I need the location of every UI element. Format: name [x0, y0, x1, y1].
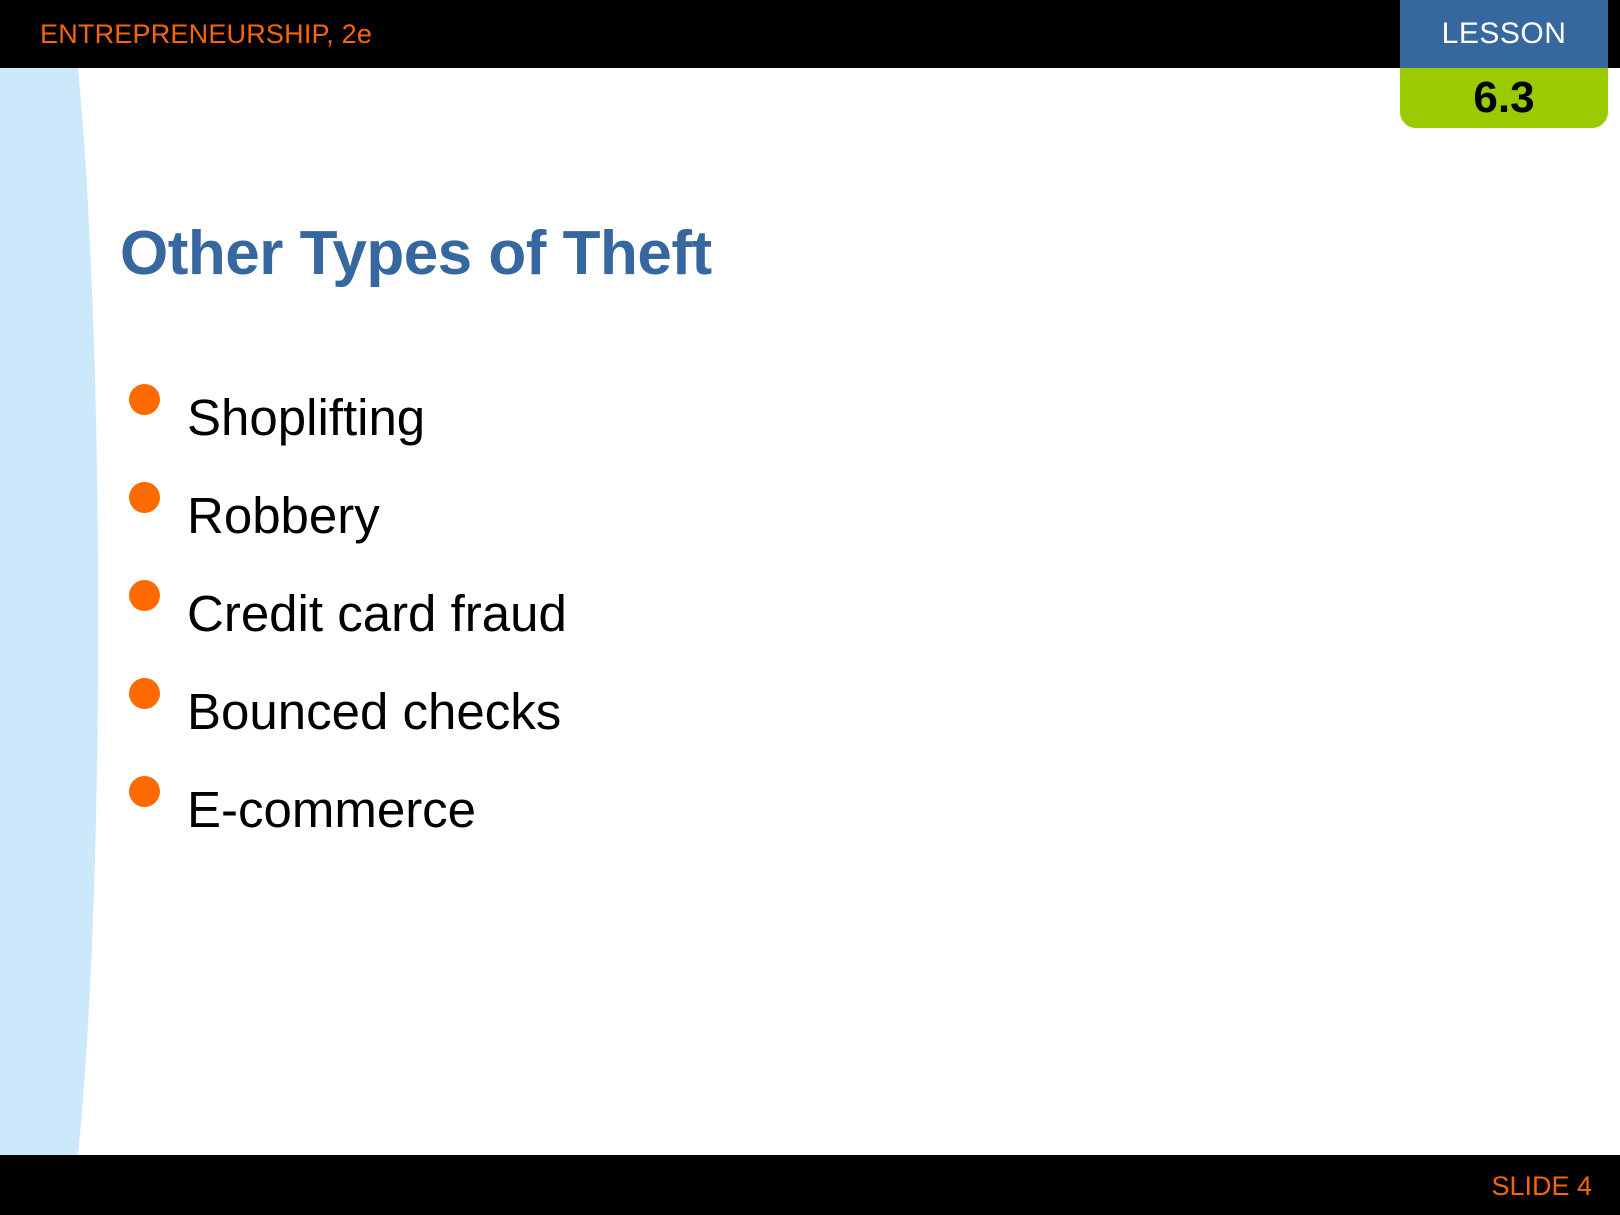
list-item: Shoplifting: [122, 368, 1322, 466]
bullet-dot-icon: [129, 776, 160, 807]
list-item: Robbery: [122, 466, 1322, 564]
bullet-dot-icon: [129, 580, 160, 611]
lesson-number: 6.3: [1473, 76, 1534, 120]
slide-number: SLIDE 4: [1491, 1171, 1592, 1202]
bullet-dot-icon: [129, 384, 160, 415]
left-curve-decoration: [0, 68, 140, 1155]
list-item: E-commerce: [122, 760, 1322, 858]
lesson-number-block: 6.3: [1400, 68, 1608, 128]
list-item-label: E-commerce: [187, 784, 476, 835]
bullet-dot-icon: [129, 482, 160, 513]
page-title: Other Types of Theft: [120, 218, 712, 289]
left-curve-path: [0, 68, 98, 1155]
list-item: Credit card fraud: [122, 564, 1322, 662]
lesson-label: LESSON: [1442, 19, 1567, 49]
lesson-badge: LESSON 6.3: [1400, 0, 1608, 128]
list-item-label: Bounced checks: [187, 686, 561, 737]
course-title: ENTREPRENEURSHIP, 2e: [40, 19, 372, 50]
bullet-list: Shoplifting Robbery Credit card fraud Bo…: [122, 368, 1322, 858]
list-item-label: Robbery: [187, 490, 380, 541]
list-item: Bounced checks: [122, 662, 1322, 760]
slide: ENTREPRENEURSHIP, 2e LESSON 6.3 Other Ty…: [0, 0, 1620, 1215]
footer-bar: SLIDE 4: [0, 1155, 1620, 1215]
list-item-label: Shoplifting: [187, 392, 425, 443]
bullet-dot-icon: [129, 678, 160, 709]
lesson-label-block: LESSON: [1400, 0, 1608, 68]
list-item-label: Credit card fraud: [187, 588, 567, 639]
header-bar: ENTREPRENEURSHIP, 2e: [0, 0, 1620, 68]
